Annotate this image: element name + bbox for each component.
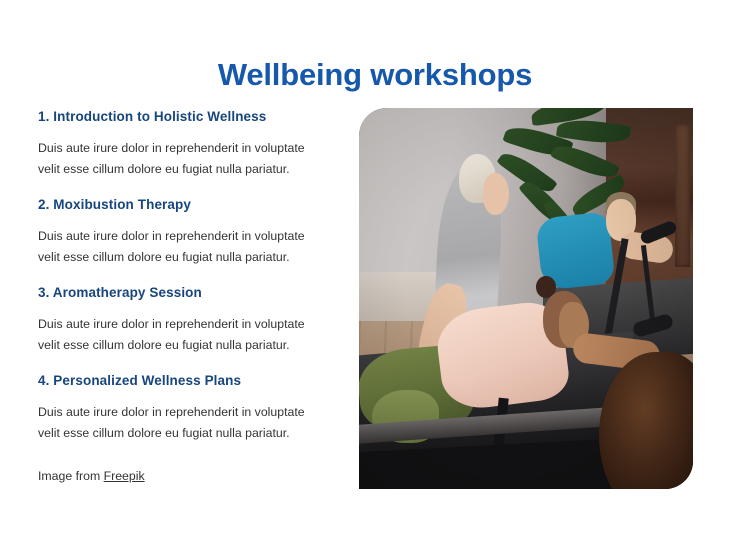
workshop-item: 1. Introduction to Holistic Wellness Dui… (38, 108, 338, 180)
photo-vignette (359, 108, 693, 489)
workshop-body: Duis aute irure dolor in reprehenderit i… (38, 402, 323, 444)
workshop-heading: 2. Moxibustion Therapy (38, 196, 338, 214)
image-credit: Image from Freepik (38, 466, 338, 486)
workshop-photo (359, 108, 693, 489)
wellbeing-workshops-page: Wellbeing workshops 1. Introduction to H… (0, 0, 750, 542)
content-area: 1. Introduction to Holistic Wellness Dui… (38, 108, 712, 500)
workshop-item: 4. Personalized Wellness Plans Duis aute… (38, 372, 338, 444)
workshop-body: Duis aute irure dolor in reprehenderit i… (38, 314, 323, 356)
workshop-heading: 3. Aromatherapy Session (38, 284, 338, 302)
workshop-item: 3. Aromatherapy Session Duis aute irure … (38, 284, 338, 356)
workshop-item: 2. Moxibustion Therapy Duis aute irure d… (38, 196, 338, 268)
workshop-heading: 1. Introduction to Holistic Wellness (38, 108, 338, 126)
workshop-body: Duis aute irure dolor in reprehenderit i… (38, 138, 323, 180)
workshop-heading: 4. Personalized Wellness Plans (38, 372, 338, 390)
image-credit-prefix: Image from (38, 469, 104, 483)
photo-illustration (359, 108, 693, 489)
workshop-list: 1. Introduction to Holistic Wellness Dui… (38, 108, 338, 486)
page-title: Wellbeing workshops (0, 55, 750, 95)
freepik-link[interactable]: Freepik (104, 469, 145, 483)
workshop-body: Duis aute irure dolor in reprehenderit i… (38, 226, 323, 268)
